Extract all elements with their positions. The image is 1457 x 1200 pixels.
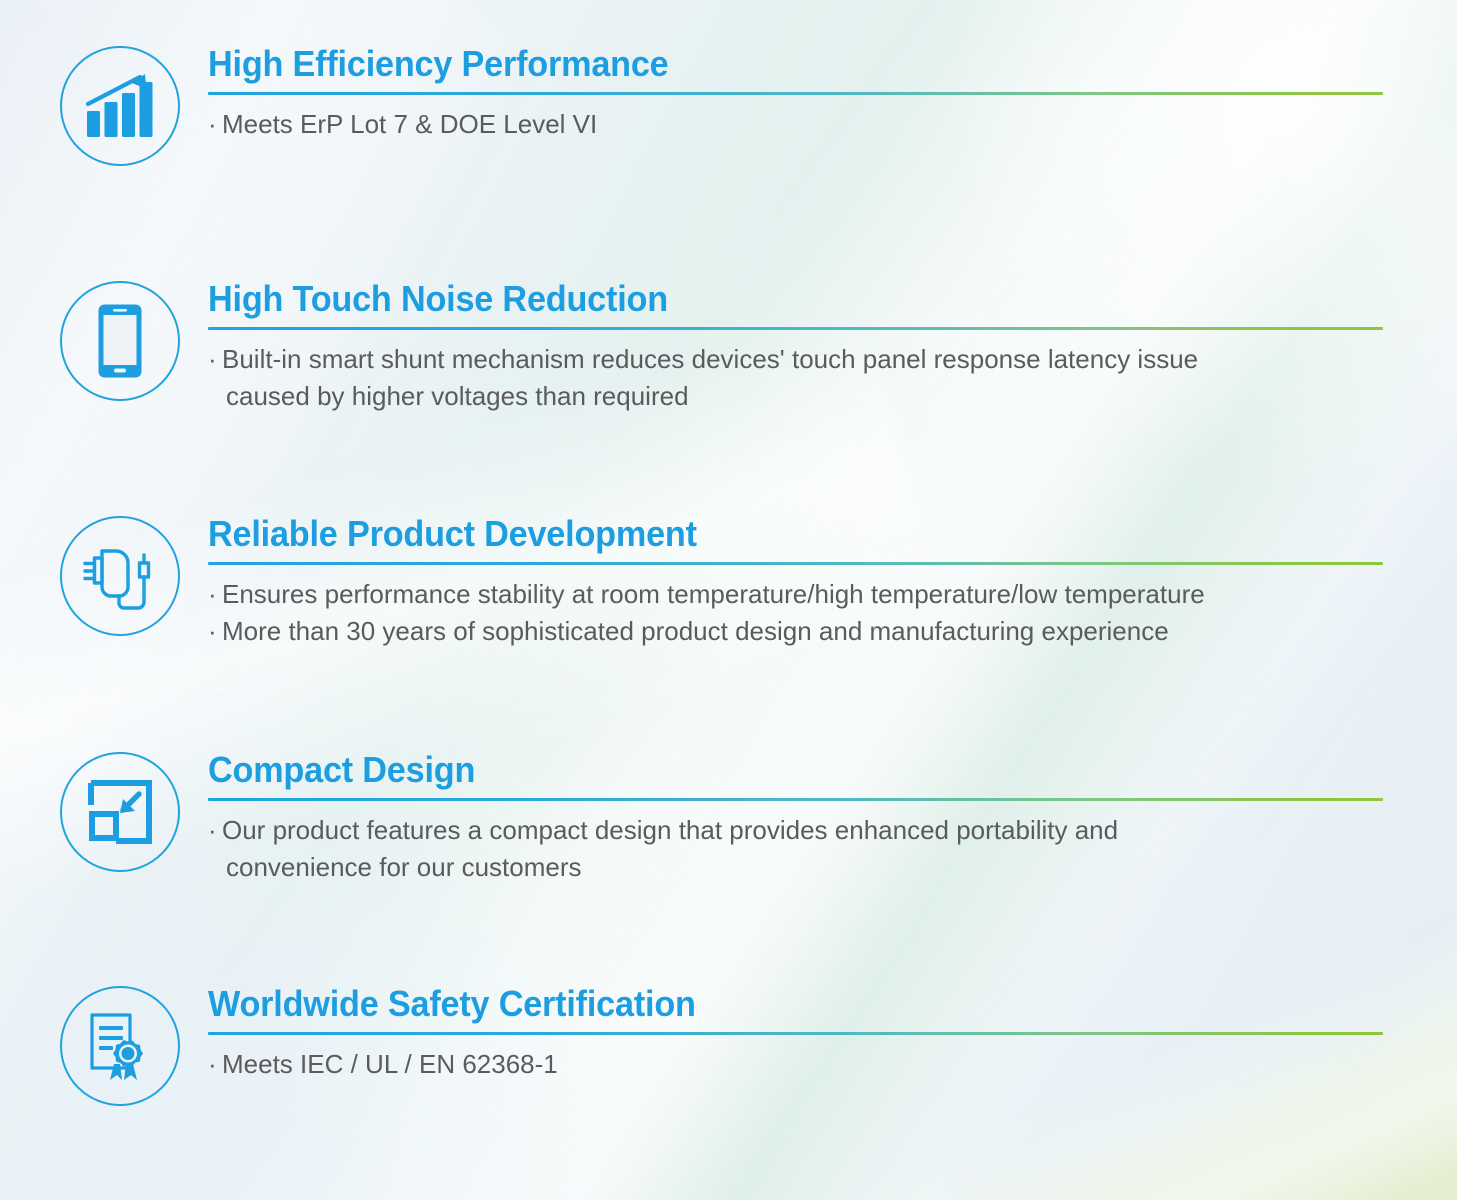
bullet-text: Meets IEC / UL / EN 62368-1 <box>222 1049 558 1079</box>
feature-title: Reliable Product Development <box>208 516 1327 553</box>
feature-body: High Touch Noise Reduction ·Built-in sma… <box>208 281 1386 415</box>
feature-divider <box>208 1032 1383 1035</box>
bullet-text: caused by higher voltages than required <box>208 378 689 415</box>
feature-item-high-efficiency-performance: High Efficiency Performance ·Meets ErP L… <box>0 46 1457 166</box>
feature-item-compact-design: Compact Design ·Our product features a c… <box>0 752 1457 886</box>
feature-bullet: ·Built-in smart shunt mechanism reduces … <box>208 341 1386 378</box>
bullet-marker: · <box>208 341 222 378</box>
feature-icon-wrapper <box>57 516 182 636</box>
feature-bullet-continuation: convenience for our customers <box>208 849 1386 886</box>
bullet-marker: · <box>208 1046 222 1083</box>
feature-divider <box>208 798 1383 801</box>
bullet-marker: · <box>208 613 222 650</box>
bullet-text: Our product features a compact design th… <box>222 815 1118 845</box>
bullet-text: Built-in smart shunt mechanism reduces d… <box>222 344 1198 374</box>
feature-bullet: ·Ensures performance stability at room t… <box>208 576 1386 613</box>
bullet-text: Meets ErP Lot 7 & DOE Level VI <box>222 109 597 139</box>
feature-body: Worldwide Safety Certification ·Meets IE… <box>208 986 1386 1083</box>
bullet-marker: · <box>208 576 222 613</box>
feature-bullets: ·Ensures performance stability at room t… <box>208 576 1386 650</box>
feature-bullet: ·More than 30 years of sophisticated pro… <box>208 613 1386 650</box>
feature-icon-wrapper <box>57 752 182 872</box>
bullet-marker: · <box>208 106 222 143</box>
feature-item-high-touch-noise-reduction: High Touch Noise Reduction ·Built-in sma… <box>0 281 1457 415</box>
feature-body: Reliable Product Development ·Ensures pe… <box>208 516 1386 650</box>
feature-bullet-continuation: caused by higher voltages than required <box>208 378 1386 415</box>
feature-body: High Efficiency Performance ·Meets ErP L… <box>208 46 1386 143</box>
feature-bullet: ·Meets IEC / UL / EN 62368-1 <box>208 1046 1386 1083</box>
feature-icon-wrapper <box>57 281 182 401</box>
certificate-seal-icon <box>60 986 180 1106</box>
feature-divider <box>208 92 1383 95</box>
feature-bullets: ·Meets ErP Lot 7 & DOE Level VI <box>208 106 1386 143</box>
feature-divider <box>208 562 1383 565</box>
feature-list: High Efficiency Performance ·Meets ErP L… <box>0 0 1457 1200</box>
feature-item-worldwide-safety-certification: Worldwide Safety Certification ·Meets IE… <box>0 986 1457 1106</box>
feature-bullet: ·Meets ErP Lot 7 & DOE Level VI <box>208 106 1386 143</box>
compact-resize-icon <box>60 752 180 872</box>
feature-body: Compact Design ·Our product features a c… <box>208 752 1386 886</box>
feature-title: High Touch Noise Reduction <box>208 281 1327 318</box>
feature-bullets: ·Our product features a compact design t… <box>208 812 1386 886</box>
feature-divider <box>208 327 1383 330</box>
feature-icon-wrapper <box>57 46 182 166</box>
feature-list-page: High Efficiency Performance ·Meets ErP L… <box>0 0 1457 1200</box>
bullet-text: convenience for our customers <box>208 849 582 886</box>
bar-chart-growth-icon <box>60 46 180 166</box>
feature-bullets: ·Built-in smart shunt mechanism reduces … <box>208 341 1386 415</box>
bullet-marker: · <box>208 812 222 849</box>
feature-title: Compact Design <box>208 752 1327 789</box>
bullet-text: Ensures performance stability at room te… <box>222 579 1205 609</box>
feature-title: High Efficiency Performance <box>208 46 1327 83</box>
bullet-text: More than 30 years of sophisticated prod… <box>222 616 1169 646</box>
feature-bullet: ·Our product features a compact design t… <box>208 812 1386 849</box>
power-adapter-icon <box>60 516 180 636</box>
smartphone-icon <box>60 281 180 401</box>
feature-title: Worldwide Safety Certification <box>208 986 1327 1023</box>
feature-icon-wrapper <box>57 986 182 1106</box>
feature-item-reliable-product-development: Reliable Product Development ·Ensures pe… <box>0 516 1457 650</box>
feature-bullets: ·Meets IEC / UL / EN 62368-1 <box>208 1046 1386 1083</box>
